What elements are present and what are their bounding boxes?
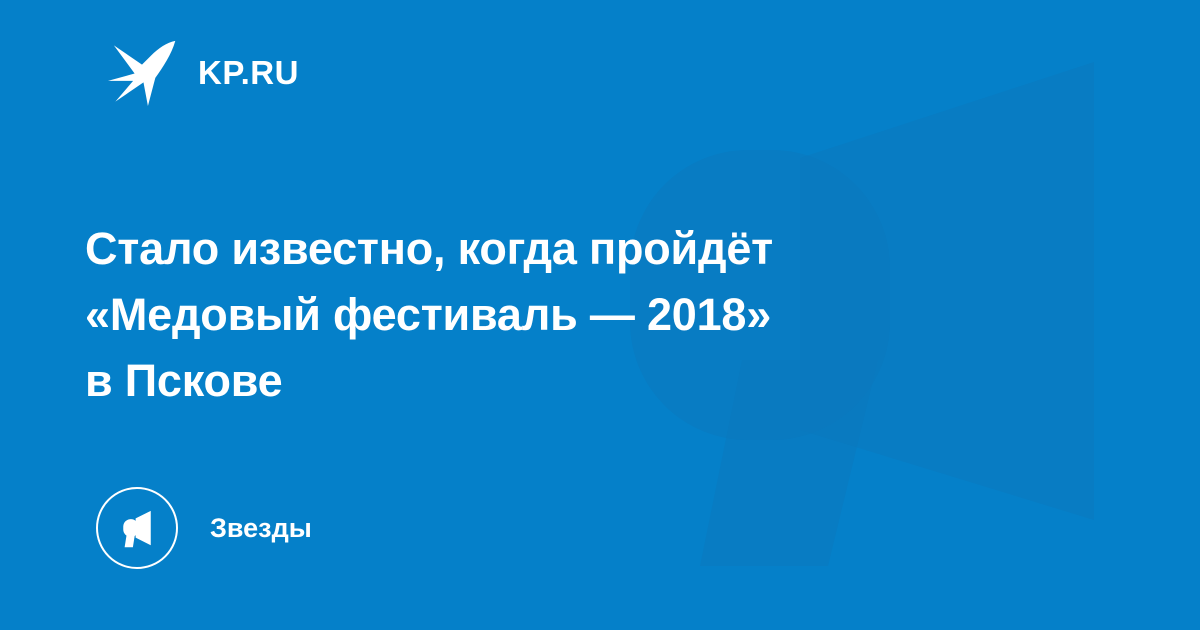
category-label: Звезды xyxy=(210,515,312,542)
swallow-bird-icon xyxy=(104,35,180,109)
headline-line-2: «Медовый фестиваль — 2018» xyxy=(85,282,1015,348)
headline: Стало известно, когда пройдёт «Медовый ф… xyxy=(85,216,1015,413)
megaphone-icon xyxy=(115,506,159,550)
brand-wordmark: KP.RU xyxy=(198,56,299,89)
headline-line-1: Стало известно, когда пройдёт xyxy=(85,216,1015,282)
category-icon-circle xyxy=(96,487,178,569)
category-badge[interactable]: Звезды xyxy=(96,486,312,570)
headline-line-3: в Пскове xyxy=(85,348,1015,414)
social-share-card: KP.RU Стало известно, когда пройдёт «Мед… xyxy=(0,0,1200,630)
brand-header: KP.RU xyxy=(104,36,299,108)
